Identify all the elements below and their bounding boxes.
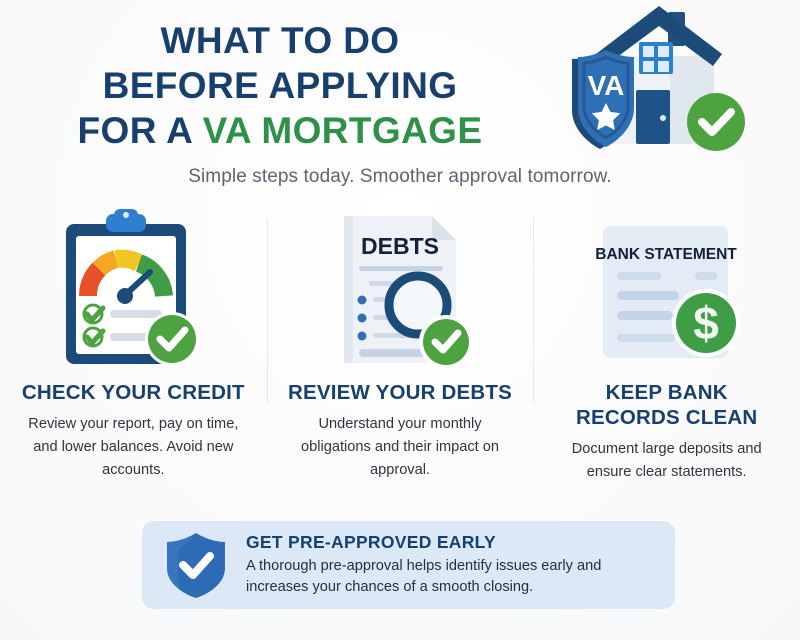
subtitle: Simple steps today. Smoother approval to… [0,166,800,188]
banner-title: GET PRE-APPROVED EARLY [246,532,653,553]
page-title: WHAT TO DO BEFORE APPLYING FOR A VA MORT… [0,18,560,153]
title-line-3: FOR A VA MORTGAGE [0,108,560,153]
title-line-1: WHAT TO DO [0,18,560,63]
title-line-2: BEFORE APPLYING [0,63,560,108]
header: WHAT TO DO BEFORE APPLYING FOR A VA MORT… [0,0,800,200]
card-body-credit: Review your report, pay on time, and low… [18,413,249,482]
card-title-credit: CHECK YOUR CREDIT [18,380,249,405]
debts-document-magnifier-icon: DEBTS [285,206,516,374]
clipboard-credit-score-icon [18,206,249,374]
header-illustration: VA [562,4,792,164]
title-line-3-prefix: FOR A [78,110,203,151]
step-card-debts: DEBTS [267,206,534,506]
card-title-bank-records: KEEP BANK RECORDS CLEAN [551,380,782,430]
va-shield-label: VA [588,70,625,101]
banner-body: A thorough pre-approval helps identify i… [246,556,653,598]
banner-text: GET PRE-APPROVED EARLY A thorough pre-ap… [246,532,653,598]
pre-approval-banner: GET PRE-APPROVED EARLY A thorough pre-ap… [142,521,675,609]
infographic-page: WHAT TO DO BEFORE APPLYING FOR A VA MORT… [0,0,800,640]
step-card-credit: CHECK YOUR CREDIT Review your report, pa… [0,206,267,506]
bank-statement-dollar-icon: BANK STATEMENT $ [551,206,782,374]
debts-doc-label: DEBTS [361,233,439,259]
green-check-circle-icon [687,93,745,151]
card-body-bank-records: Document large deposits and ensure clear… [551,438,782,484]
dollar-glyph: $ [693,297,719,349]
steps-row: CHECK YOUR CREDIT Review your report, pa… [0,206,800,506]
bank-statement-label: BANK STATEMENT [595,246,737,263]
shield-check-icon [164,530,228,600]
card-title-debts: REVIEW YOUR DEBTS [285,380,516,405]
card-body-debts: Understand your monthly obligations and … [285,413,516,482]
title-accent-va-mortgage: VA MORTGAGE [203,110,483,151]
step-card-bank-records: BANK STATEMENT $ KEEP BANK RECORDS CLEAN [533,206,800,506]
